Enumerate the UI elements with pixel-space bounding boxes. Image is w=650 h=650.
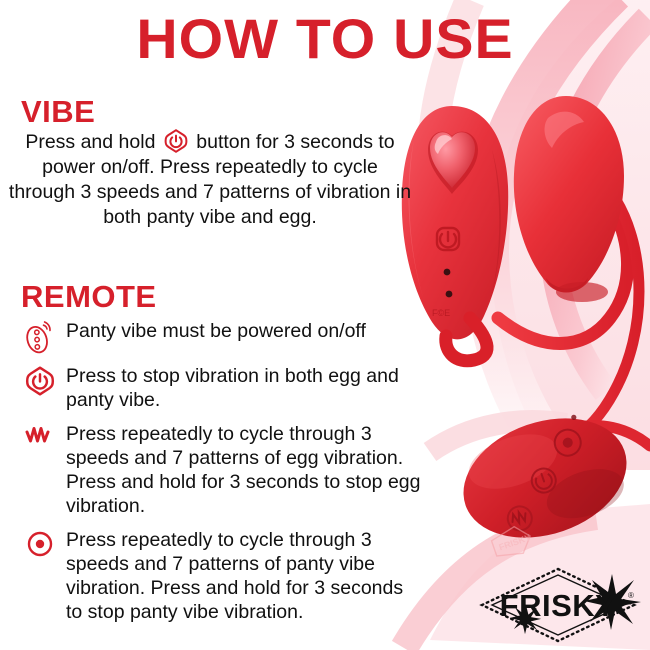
remote-instruction-list: Panty vibe must be powered on/off Press … bbox=[14, 318, 424, 633]
vibrating-egg bbox=[514, 96, 624, 302]
vibe-instructions: Press and hold button for 3 seconds to p… bbox=[8, 128, 412, 230]
remote-control-icon bbox=[14, 318, 66, 354]
remote-heading: REMOTE bbox=[21, 281, 157, 313]
list-item-label: Panty vibe must be powered on/off bbox=[66, 318, 366, 343]
frisky-wordmark: FRISKY bbox=[500, 588, 617, 623]
how-to-use-card: F©E bbox=[0, 0, 650, 650]
list-item: Panty vibe must be powered on/off bbox=[14, 318, 424, 354]
vibe-text-before: Press and hold bbox=[25, 131, 155, 153]
svg-text:F©E: F©E bbox=[432, 308, 450, 318]
list-item-label: Press repeatedly to cycle through 3 spee… bbox=[66, 527, 424, 624]
frisky-logo: FRISKY ® bbox=[474, 564, 642, 646]
list-item: Press repeatedly to cycle through 3 spee… bbox=[14, 527, 424, 624]
list-item-label: Press repeatedly to cycle through 3 spee… bbox=[66, 421, 424, 518]
list-item: Press to stop vibration in both egg and … bbox=[14, 363, 424, 412]
vibe-heading: VIBE bbox=[21, 96, 95, 128]
vibration-wave-icon bbox=[14, 421, 66, 457]
power-icon bbox=[14, 363, 66, 399]
dot-target-icon bbox=[14, 527, 66, 563]
page-title: HOW TO USE bbox=[0, 8, 650, 70]
power-icon bbox=[163, 128, 189, 154]
list-item: Press repeatedly to cycle through 3 spee… bbox=[14, 421, 424, 518]
list-item-label: Press to stop vibration in both egg and … bbox=[66, 363, 424, 412]
svg-text:®: ® bbox=[628, 591, 634, 600]
